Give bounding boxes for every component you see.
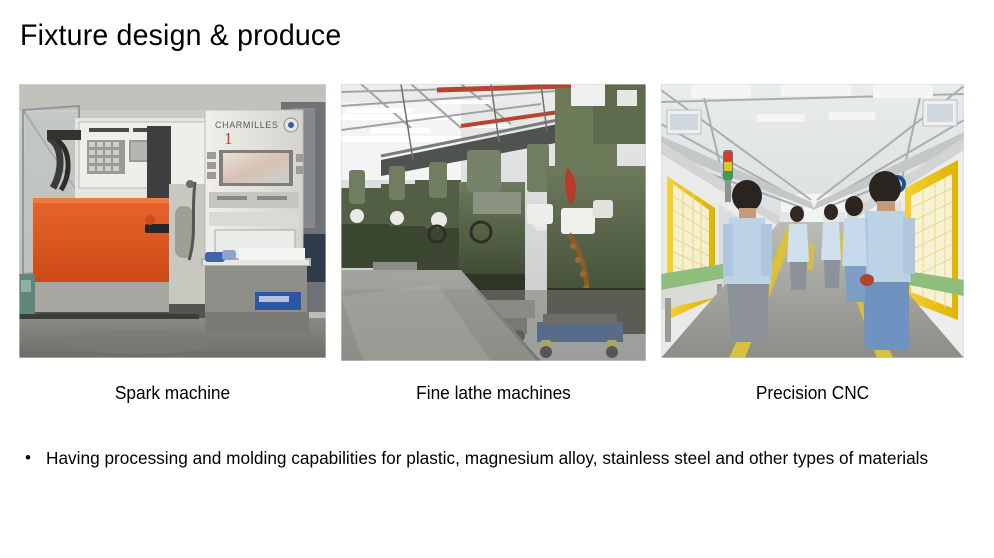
- cnc-aisle-illustration: [661, 84, 964, 358]
- bullet-list: • Having processing and molding capabili…: [20, 438, 960, 478]
- list-item: • Having processing and molding capabili…: [20, 438, 960, 478]
- page-title: Fixture design & produce: [20, 16, 341, 56]
- bullet-text: Having processing and molding capabiliti…: [46, 438, 946, 478]
- caption-spark-machine: Spark machine: [25, 381, 320, 405]
- gallery-image-spark-machine: CHARMILLES 1: [19, 84, 326, 358]
- gallery-image-precision-cnc: [661, 84, 964, 358]
- bullet-marker-icon: •: [20, 438, 46, 478]
- spark-machine-illustration: CHARMILLES 1: [19, 84, 326, 358]
- lathe-row-illustration: [341, 84, 646, 361]
- caption-fine-lathe-machines: Fine lathe machines: [347, 381, 640, 405]
- caption-precision-cnc: Precision CNC: [667, 381, 958, 405]
- gallery-image-fine-lathe-machines: [341, 84, 646, 361]
- svg-text:1: 1: [224, 129, 233, 148]
